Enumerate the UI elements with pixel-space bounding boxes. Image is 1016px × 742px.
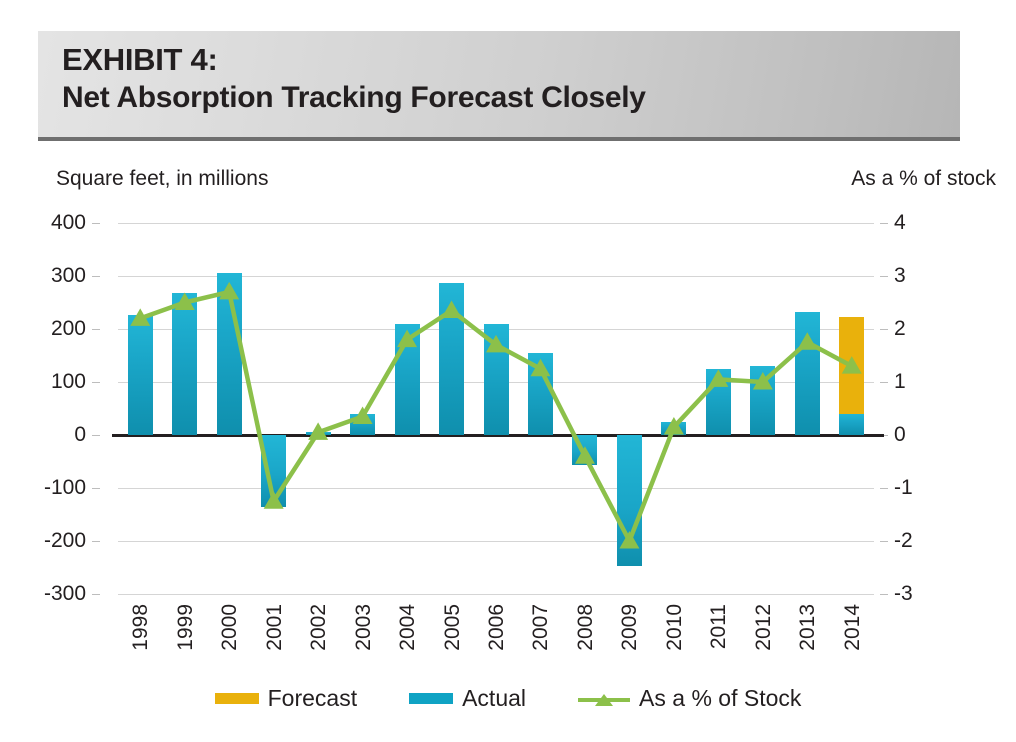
x-axis-label: 2011 <box>707 604 731 649</box>
y-tick-mark-right <box>880 541 888 542</box>
legend-label: Actual <box>462 685 526 712</box>
y-tick-mark-left <box>92 223 100 224</box>
y-tick-label-left: 300 <box>51 264 86 288</box>
y-tick-mark-right <box>880 488 888 489</box>
legend-item: Forecast <box>215 685 357 712</box>
x-axis-label: 2002 <box>307 604 331 651</box>
legend-item: As a % of Stock <box>578 685 801 712</box>
legend-swatch-icon <box>215 693 259 704</box>
x-axis-label: 2003 <box>352 604 376 651</box>
chart-legend: ForecastActualAs a % of Stock <box>0 685 1016 712</box>
y-tick-label-left: 400 <box>51 211 86 235</box>
x-axis-label: 2000 <box>218 604 242 651</box>
right-axis-caption: As a % of stock <box>851 167 996 191</box>
y-tick-label-right: 0 <box>894 423 906 447</box>
y-tick-mark-right <box>880 329 888 330</box>
x-axis-label: 1998 <box>129 604 153 651</box>
exhibit-number: EXHIBIT 4: <box>62 41 960 79</box>
x-axis-label: 2006 <box>485 604 509 651</box>
exhibit-title: Net Absorption Tracking Forecast Closely <box>62 79 960 117</box>
y-tick-label-right: -2 <box>894 529 913 553</box>
y-tick-mark-right <box>880 594 888 595</box>
x-axis-label: 2012 <box>752 604 776 651</box>
y-tick-mark-right <box>880 276 888 277</box>
y-tick-mark-left <box>92 382 100 383</box>
x-axis-label: 2013 <box>796 604 820 651</box>
line-marker-triangle <box>797 332 817 350</box>
y-tick-label-left: -200 <box>44 529 86 553</box>
legend-label: As a % of Stock <box>639 685 801 712</box>
y-tick-mark-left <box>92 435 100 436</box>
x-axis-labels: 1998199920002001200220032004200520062007… <box>118 604 874 684</box>
left-axis-caption: Square feet, in millions <box>56 167 268 191</box>
x-axis-label: 2014 <box>841 604 865 651</box>
y-tick-mark-left <box>92 488 100 489</box>
x-axis-label: 2001 <box>263 604 287 651</box>
y-tick-label-right: 3 <box>894 264 906 288</box>
line-marker-triangle <box>442 300 462 318</box>
left-axis-ticks: 4003002001000-100-200-300 <box>0 223 100 594</box>
line-marker-triangle <box>353 406 373 424</box>
y-tick-mark-left <box>92 329 100 330</box>
exhibit-header-banner: EXHIBIT 4: Net Absorption Tracking Forec… <box>38 31 960 141</box>
y-tick-mark-left <box>92 276 100 277</box>
line-marker-triangle <box>397 330 417 348</box>
percent-of-stock-line <box>118 223 874 594</box>
x-axis-label: 2004 <box>396 604 420 651</box>
y-tick-label-left: 200 <box>51 317 86 341</box>
y-tick-label-right: -1 <box>894 476 913 500</box>
x-axis-label: 2010 <box>663 604 687 651</box>
x-axis-label: 2005 <box>441 604 465 651</box>
exhibit-chart-page: EXHIBIT 4: Net Absorption Tracking Forec… <box>0 0 1016 742</box>
y-tick-mark-right <box>880 382 888 383</box>
y-tick-label-right: 1 <box>894 370 906 394</box>
y-tick-label-left: 0 <box>74 423 86 447</box>
legend-label: Forecast <box>268 685 357 712</box>
y-tick-label-right: 2 <box>894 317 906 341</box>
y-tick-mark-right <box>880 223 888 224</box>
y-tick-label-right: 4 <box>894 211 906 235</box>
x-axis-label: 1999 <box>174 604 198 651</box>
y-tick-label-right: -3 <box>894 582 913 606</box>
x-axis-label: 2008 <box>574 604 598 651</box>
gridline <box>118 594 874 595</box>
y-tick-label-left: -100 <box>44 476 86 500</box>
plot-area <box>118 223 874 594</box>
y-tick-label-left: -300 <box>44 582 86 606</box>
x-axis-label: 2007 <box>529 604 553 651</box>
line-marker-triangle <box>619 531 639 549</box>
y-tick-mark-left <box>92 594 100 595</box>
x-axis-label: 2009 <box>618 604 642 651</box>
legend-item: Actual <box>409 685 526 712</box>
right-axis-ticks: 43210-1-2-3 <box>880 223 980 594</box>
legend-swatch-icon <box>409 693 453 704</box>
legend-line-triangle-icon <box>578 692 630 706</box>
y-tick-mark-left <box>92 541 100 542</box>
line-path <box>140 292 852 541</box>
line-marker-triangle <box>575 446 595 464</box>
y-tick-label-left: 100 <box>51 370 86 394</box>
line-marker-triangle <box>219 282 239 300</box>
